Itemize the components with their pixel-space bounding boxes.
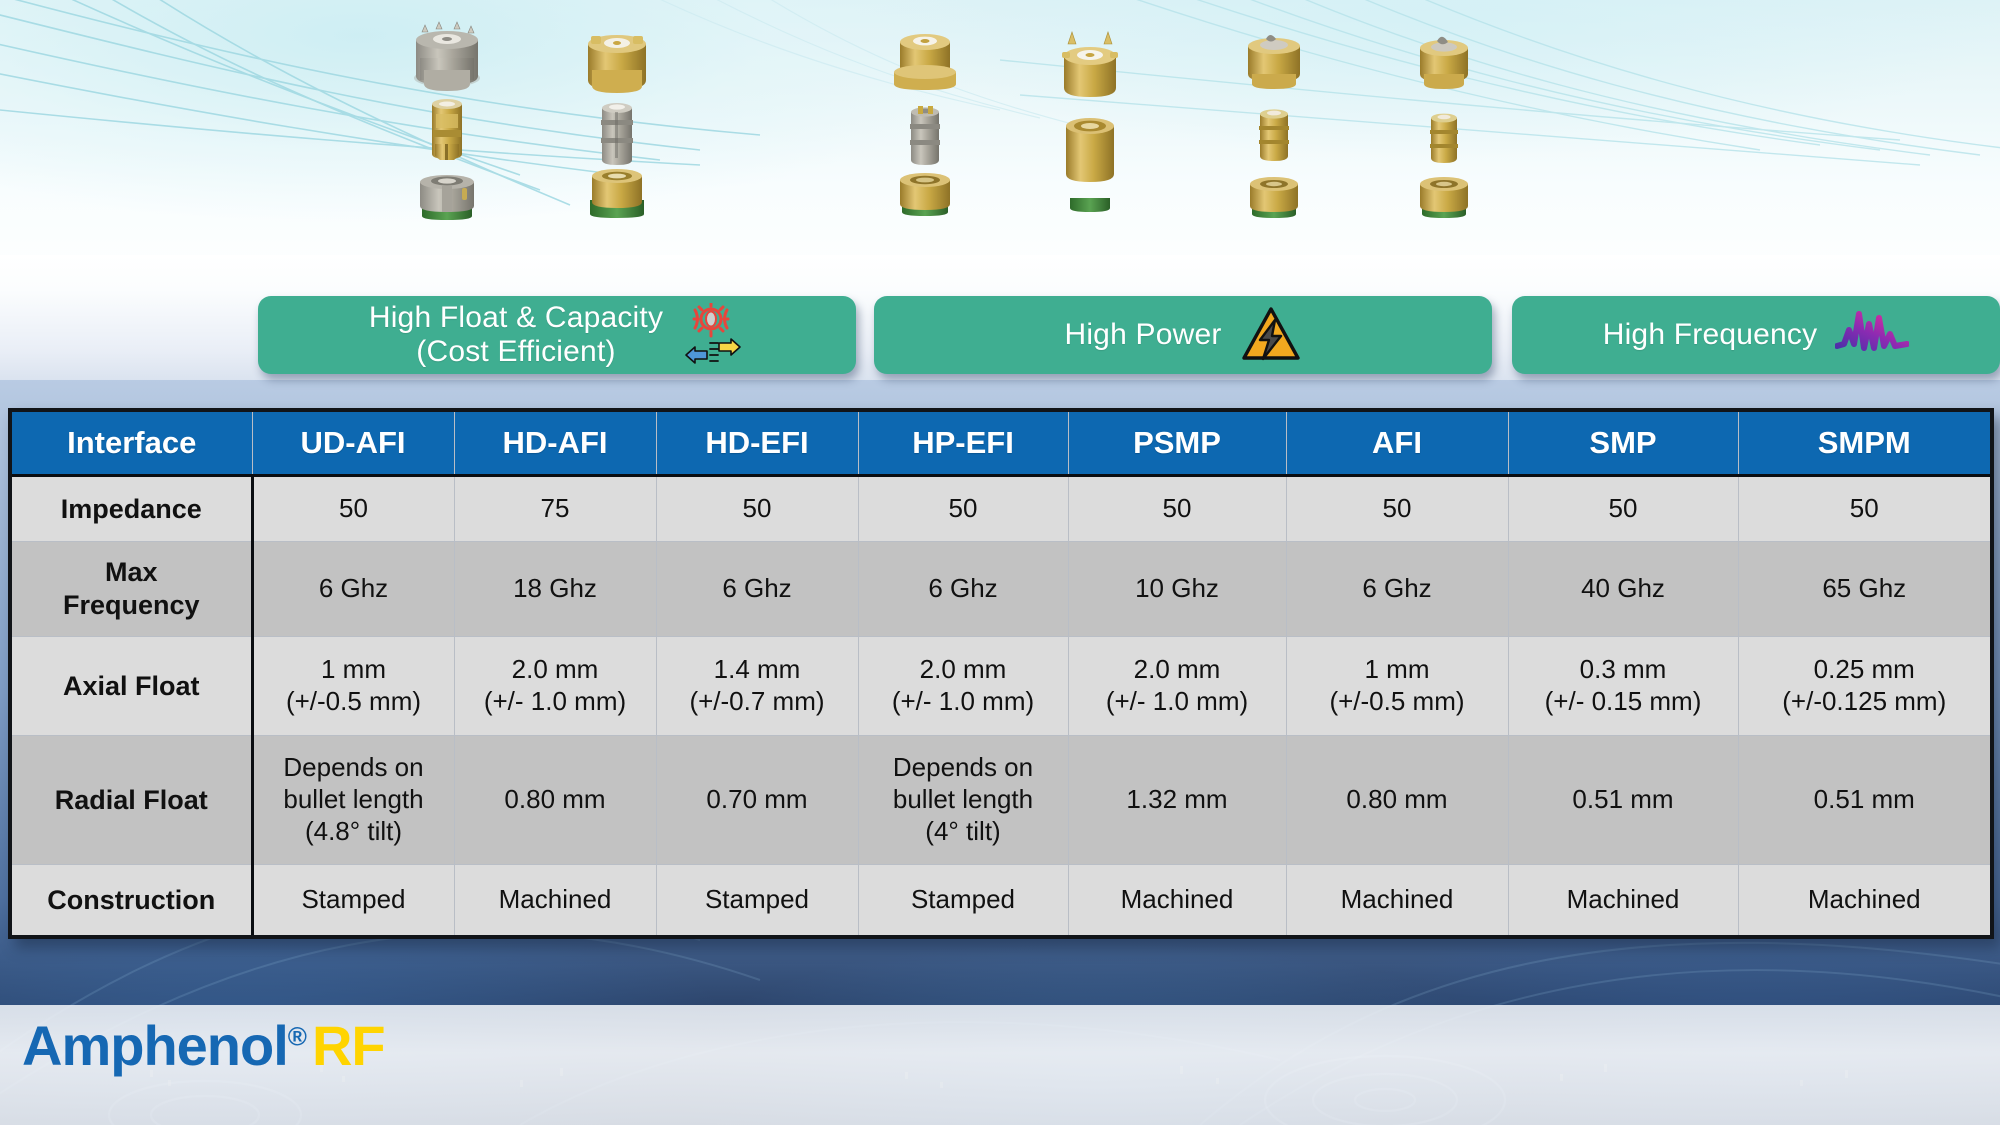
table-row-max-frequency: Max Frequency 6 Ghz 18 Ghz 6 Ghz 6 Ghz 1… <box>12 542 1990 637</box>
product-smp-connector <box>1228 18 1320 224</box>
cell-impedance-hd-afi: 75 <box>454 476 656 542</box>
banner-high-frequency[interactable]: High Frequency <box>1512 296 2000 374</box>
cell-impedance-hd-efi: 50 <box>656 476 858 542</box>
cell-construction-hd-afi: Machined <box>454 865 656 936</box>
cell-impedance-psmp: 50 <box>1068 476 1286 542</box>
product-photo-strip <box>0 0 2000 300</box>
column-header-afi[interactable]: AFI <box>1286 412 1508 476</box>
cell-impedance-hp-efi: 50 <box>858 476 1068 542</box>
banner-label-line2: (Cost Efficient) <box>369 335 663 369</box>
cell-impedance-afi: 50 <box>1286 476 1508 542</box>
cell-radial-float-psmp: 1.32 mm <box>1068 736 1286 865</box>
cell-axial-float-ud-afi: 1 mm(+/-0.5 mm) <box>252 637 454 736</box>
table-row-axial-float: Axial Float 1 mm(+/-0.5 mm) 2.0 mm(+/- 1… <box>12 637 1990 736</box>
cell-max-frequency-ud-afi: 6 Ghz <box>252 542 454 637</box>
column-header-psmp[interactable]: PSMP <box>1068 412 1286 476</box>
logo-rf-text: RF <box>312 1014 385 1077</box>
slide-canvas: High Float & Capacity (Cost Efficient) <box>0 0 2000 1125</box>
cell-axial-float-hd-afi: 2.0 mm(+/- 1.0 mm) <box>454 637 656 736</box>
cell-radial-float-smpm: 0.51 mm <box>1738 736 1990 865</box>
cell-axial-float-psmp: 2.0 mm(+/- 1.0 mm) <box>1068 637 1286 736</box>
cell-construction-psmp: Machined <box>1068 865 1286 936</box>
product-ud-afi-connector <box>392 18 502 228</box>
cell-max-frequency-hd-efi: 6 Ghz <box>656 542 858 637</box>
cell-impedance-ud-afi: 50 <box>252 476 454 542</box>
cell-radial-float-hd-efi: 0.70 mm <box>656 736 858 865</box>
cell-max-frequency-smp: 40 Ghz <box>1508 542 1738 637</box>
cell-axial-float-hd-efi: 1.4 mm(+/-0.7 mm) <box>656 637 858 736</box>
cell-max-frequency-psmp: 10 Ghz <box>1068 542 1286 637</box>
cell-max-frequency-hd-afi: 18 Ghz <box>454 542 656 637</box>
product-psmp-connector <box>880 20 970 220</box>
banner-high-float-capacity[interactable]: High Float & Capacity (Cost Efficient) <box>258 296 856 374</box>
cell-construction-ud-afi: Stamped <box>252 865 454 936</box>
interface-comparison-table: Interface UD-AFI HD-AFI HD-EFI HP-EFI PS… <box>8 408 1994 939</box>
cell-radial-float-afi: 0.80 mm <box>1286 736 1508 865</box>
column-header-hd-afi[interactable]: HD-AFI <box>454 412 656 476</box>
banner-label-line1: High Float & Capacity <box>369 301 663 335</box>
cell-construction-smp: Machined <box>1508 865 1738 936</box>
banner-high-frequency-label: High Frequency <box>1603 318 1818 352</box>
column-header-hp-efi[interactable]: HP-EFI <box>858 412 1068 476</box>
cell-max-frequency-smpm: 65 Ghz <box>1738 542 1990 637</box>
column-header-hd-efi[interactable]: HD-EFI <box>656 412 858 476</box>
cell-radial-float-hd-afi: 0.80 mm <box>454 736 656 865</box>
table-row-radial-float: Radial Float Depends onbullet length(4.8… <box>12 736 1990 865</box>
cell-construction-hd-efi: Stamped <box>656 865 858 936</box>
cell-impedance-smpm: 50 <box>1738 476 1990 542</box>
lightning-bolt-warning-icon <box>1240 304 1302 366</box>
logo-registered-mark: ® <box>288 1021 306 1051</box>
gear-transfer-arrows-icon <box>681 303 745 367</box>
row-label-axial-float: Axial Float <box>12 637 252 736</box>
category-banner-row: High Float & Capacity (Cost Efficient) <box>258 296 2000 386</box>
column-header-interface[interactable]: Interface <box>12 412 252 476</box>
logo-brand-text: Amphenol <box>22 1014 288 1077</box>
column-header-smpm[interactable]: SMPM <box>1738 412 1990 476</box>
cell-construction-smpm: Machined <box>1738 865 1990 936</box>
cell-impedance-smp: 50 <box>1508 476 1738 542</box>
product-afi-connector <box>1040 22 1140 218</box>
cell-construction-hp-efi: Stamped <box>858 865 1068 936</box>
row-label-construction: Construction <box>12 865 252 936</box>
product-smpm-connector <box>1398 20 1490 222</box>
waveform-icon <box>1835 308 1909 362</box>
row-label-radial-float: Radial Float <box>12 736 252 865</box>
table-row-construction: Construction Stamped Machined Stamped St… <box>12 865 1990 936</box>
row-label-line1: Max <box>105 557 158 587</box>
cell-axial-float-smp: 0.3 mm(+/- 0.15 mm) <box>1508 637 1738 736</box>
cell-radial-float-ud-afi: Depends onbullet length(4.8° tilt) <box>252 736 454 865</box>
cell-axial-float-afi: 1 mm(+/-0.5 mm) <box>1286 637 1508 736</box>
banner-high-float-capacity-label: High Float & Capacity (Cost Efficient) <box>369 301 663 368</box>
cell-axial-float-smpm: 0.25 mm(+/-0.125 mm) <box>1738 637 1990 736</box>
row-label-impedance: Impedance <box>12 476 252 542</box>
column-header-ud-afi[interactable]: UD-AFI <box>252 412 454 476</box>
product-hd-afi-connector <box>562 16 672 228</box>
cell-max-frequency-hp-efi: 6 Ghz <box>858 542 1068 637</box>
row-label-max-frequency: Max Frequency <box>12 542 252 637</box>
cell-radial-float-hp-efi: Depends onbullet length(4° tilt) <box>858 736 1068 865</box>
row-label-line2: Frequency <box>63 590 200 620</box>
amphenol-rf-logo: Amphenol®RF <box>22 1018 385 1074</box>
cell-construction-afi: Machined <box>1286 865 1508 936</box>
banner-high-power[interactable]: High Power <box>874 296 1492 374</box>
cell-radial-float-smp: 0.51 mm <box>1508 736 1738 865</box>
cell-axial-float-hp-efi: 2.0 mm(+/- 1.0 mm) <box>858 637 1068 736</box>
table-header-row: Interface UD-AFI HD-AFI HD-EFI HP-EFI PS… <box>12 412 1990 476</box>
table-row-impedance: Impedance 50 75 50 50 50 50 50 50 <box>12 476 1990 542</box>
cell-max-frequency-afi: 6 Ghz <box>1286 542 1508 637</box>
column-header-smp[interactable]: SMP <box>1508 412 1738 476</box>
banner-high-power-label: High Power <box>1064 318 1221 352</box>
